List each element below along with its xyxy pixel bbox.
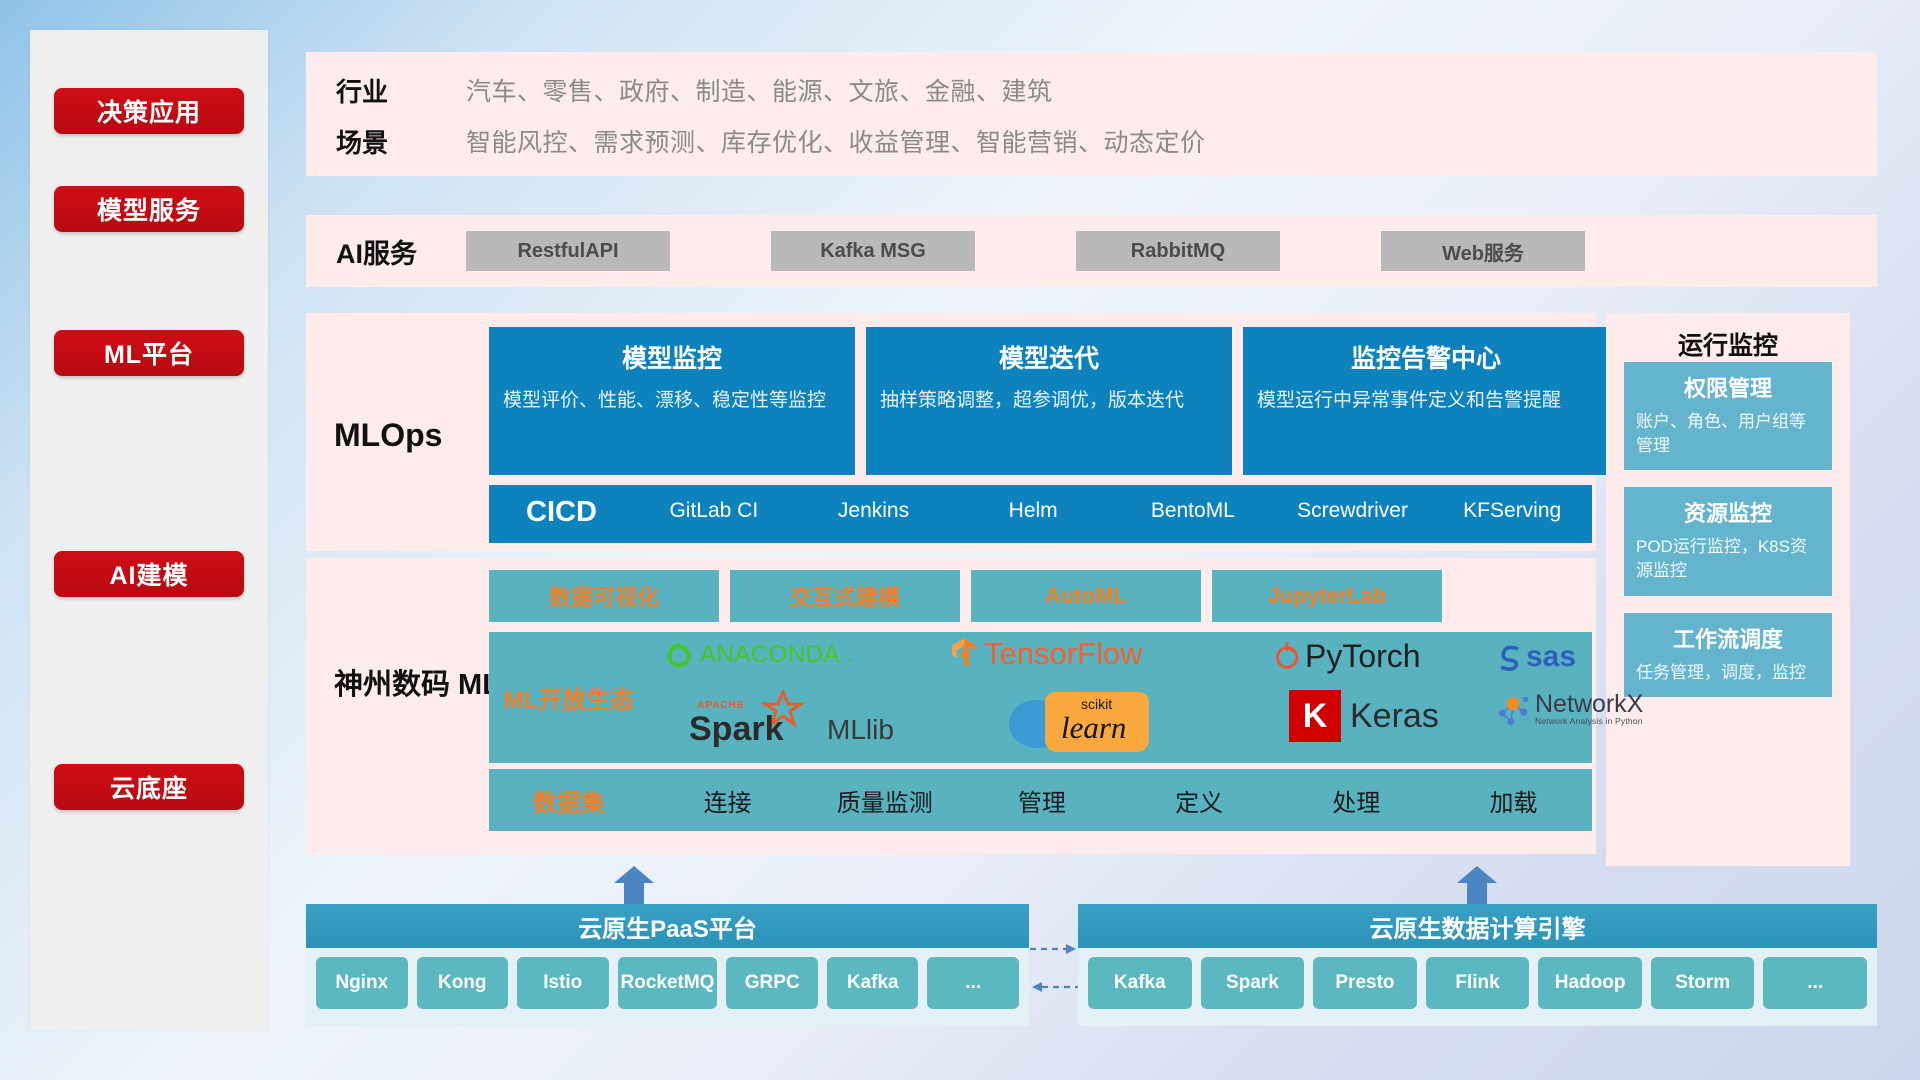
dataset-item-manage[interactable]: 管理	[963, 783, 1120, 818]
engine-chip-hadoop[interactable]: Hadoop	[1538, 957, 1642, 1009]
paas-chip-nginx[interactable]: Nginx	[316, 957, 408, 1009]
card-title: 资源监控	[1636, 496, 1820, 528]
paas-chip-rocketmq[interactable]: RocketMQ	[618, 957, 718, 1009]
tab-data-visualization[interactable]: 数据可视化	[489, 570, 719, 622]
card-desc: 模型运行中异常事件定义和告警提醒	[1257, 387, 1595, 415]
sas-logo[interactable]: sas	[1494, 640, 1576, 674]
pytorch-logo[interactable]: PyTorch	[1274, 638, 1421, 675]
cicd-item-jenkins[interactable]: Jenkins	[794, 485, 954, 522]
card-title: 监控告警中心	[1257, 339, 1595, 375]
scenario-key: 场景	[336, 123, 466, 160]
card-desc: POD运行监控，K8S资源监控	[1636, 535, 1820, 583]
paas-chip-grpc[interactable]: GRPC	[726, 957, 818, 1009]
card-desc: 模型评价、性能、漂移、稳定性等监控	[503, 387, 841, 415]
cicd-item-bentoml[interactable]: BentoML	[1113, 485, 1273, 522]
mlops-label: MLOps	[334, 417, 442, 454]
monitor-card-resource-monitoring[interactable]: 资源监控 POD运行监控，K8S资源监控	[1624, 487, 1832, 595]
tab-automl[interactable]: AutoML	[971, 570, 1201, 622]
up-arrow-paas-icon	[613, 866, 655, 900]
rail-label: 云底座	[110, 769, 188, 805]
paas-platform-box: 云原生PaaS平台 Nginx Kong Istio RocketMQ GRPC…	[306, 904, 1029, 1026]
model-service-band: AI服务 RestfulAPI Kafka MSG RabbitMQ Web服务	[306, 215, 1877, 287]
ai-modeling-band: 神州数码 ML LAB 数据可视化 交互式建模 AutoML JupyterLa…	[306, 558, 1596, 854]
service-chip-rabbitmq[interactable]: RabbitMQ	[1076, 231, 1280, 271]
industry-key: 行业	[336, 72, 466, 109]
industry-value: 汽车、零售、政府、制造、能源、文旅、金融、建筑	[466, 72, 1053, 108]
layer-label-rail: 决策应用 模型服务 ML平台 AI建模 云底座	[30, 30, 268, 1030]
scenario-row: 场景 智能风控、需求预测、库存优化、收益管理、智能营销、动态定价	[336, 117, 1877, 165]
scikit-learn-logo[interactable]: scikit learn	[1009, 692, 1184, 754]
engine-chip-presto[interactable]: Presto	[1313, 957, 1417, 1009]
paas-platform-title: 云原生PaaS平台	[306, 904, 1029, 948]
tensorflow-logo[interactable]: TensorFlow	[949, 636, 1143, 672]
tab-interactive-modeling[interactable]: 交互式建模	[730, 570, 960, 622]
anaconda-logo[interactable]: ANACONDA.	[664, 640, 853, 670]
card-title: 模型迭代	[880, 339, 1218, 375]
paas-chip-kafka[interactable]: Kafka	[827, 957, 919, 1009]
rail-label: 决策应用	[97, 93, 201, 129]
paas-chip-istio[interactable]: Istio	[517, 957, 609, 1009]
cicd-item-gitlab-ci[interactable]: GitLab CI	[634, 485, 794, 522]
mlops-card-model-iteration[interactable]: 模型迭代 抽样策略调整，超参调优，版本迭代	[866, 327, 1232, 475]
card-title: 权限管理	[1636, 371, 1820, 403]
data-compute-engine-box: 云原生数据计算引擎 Kafka Spark Presto Flink Hadoo…	[1078, 904, 1877, 1026]
service-chip-restfulapi[interactable]: RestfulAPI	[466, 231, 670, 271]
cicd-item-kfserving[interactable]: KFServing	[1432, 485, 1592, 522]
ml-ecosystem-row: ML开放生态 ANACONDA. TensorFlow	[489, 632, 1592, 763]
mlops-card-model-monitoring[interactable]: 模型监控 模型评价、性能、漂移、稳定性等监控	[489, 327, 855, 475]
dataset-item-quality-monitoring[interactable]: 质量监测	[806, 783, 963, 818]
scenario-value: 智能风控、需求预测、库存优化、收益管理、智能营销、动态定价	[466, 123, 1206, 159]
card-desc: 抽样策略调整，超参调优，版本迭代	[880, 387, 1218, 415]
run-monitoring-band: 运行监控 权限管理 账户、角色、用户组等管理 资源监控 POD运行监控，K8S资…	[1606, 313, 1850, 866]
service-chip-kafka-msg[interactable]: Kafka MSG	[771, 231, 975, 271]
rail-label: ML平台	[104, 335, 194, 371]
rail-item-model-service[interactable]: 模型服务	[54, 186, 244, 232]
dataset-item-load[interactable]: 加载	[1435, 783, 1592, 818]
dataset-row: 数据集 连接 质量监测 管理 定义 处理 加载	[489, 769, 1592, 831]
tab-jupyterlab[interactable]: JupyterLab	[1212, 570, 1442, 622]
engine-chip-flink[interactable]: Flink	[1426, 957, 1530, 1009]
monitor-card-permission-management[interactable]: 权限管理 账户、角色、用户组等管理	[1624, 362, 1832, 470]
dataset-item-connect[interactable]: 连接	[649, 783, 806, 818]
paas-chip-more[interactable]: ...	[927, 957, 1019, 1009]
architecture-diagram: 决策应用 模型服务 ML平台 AI建模 云底座 行业 汽车、零售、政府、制造、能…	[0, 0, 1920, 1080]
up-arrow-data-engine-icon	[1456, 866, 1498, 900]
engine-chip-storm[interactable]: Storm	[1651, 957, 1755, 1009]
rail-item-ml-platform[interactable]: ML平台	[54, 330, 244, 376]
spark-mllib-logo[interactable]: APACHE Spark MLlib	[689, 694, 894, 750]
dataset-label: 数据集	[489, 783, 649, 818]
rail-item-ai-modeling[interactable]: AI建模	[54, 551, 244, 597]
rail-label: 模型服务	[97, 191, 201, 227]
dataset-item-process[interactable]: 处理	[1278, 783, 1435, 818]
ml-ecosystem-label: ML开放生态	[489, 680, 649, 715]
mlops-card-alert-center[interactable]: 监控告警中心 模型运行中异常事件定义和告警提醒	[1243, 327, 1609, 475]
decision-application-band: 行业 汽车、零售、政府、制造、能源、文旅、金融、建筑 场景 智能风控、需求预测、…	[306, 52, 1877, 176]
card-desc: 账户、角色、用户组等管理	[1636, 410, 1820, 458]
ai-service-label: AI服务	[336, 232, 466, 271]
card-desc: 任务管理，调度，监控	[1636, 661, 1820, 685]
engine-chip-kafka[interactable]: Kafka	[1088, 957, 1192, 1009]
run-monitoring-title: 运行监控	[1606, 313, 1850, 362]
paas-chip-kong[interactable]: Kong	[417, 957, 509, 1009]
cicd-item-screwdriver[interactable]: Screwdriver	[1273, 485, 1433, 522]
monitor-card-workflow-scheduling[interactable]: 工作流调度 任务管理，调度，监控	[1624, 613, 1832, 697]
cicd-row: CICD GitLab CI Jenkins Helm BentoML Scre…	[489, 485, 1592, 543]
service-chip-web-service[interactable]: Web服务	[1381, 231, 1585, 271]
card-title: 模型监控	[503, 339, 841, 375]
data-compute-engine-title: 云原生数据计算引擎	[1078, 904, 1877, 948]
rail-item-decision-application[interactable]: 决策应用	[54, 88, 244, 134]
cicd-title: CICD	[489, 485, 634, 529]
bidirectional-link-icon	[1030, 935, 1078, 1001]
dataset-item-define[interactable]: 定义	[1121, 783, 1278, 818]
networkx-logo[interactable]: NetworkX Network Analysis in Python	[1494, 692, 1643, 726]
cicd-item-helm[interactable]: Helm	[953, 485, 1113, 522]
mlops-band: MLOps 模型监控 模型评价、性能、漂移、稳定性等监控 模型迭代 抽样策略调整…	[306, 313, 1596, 551]
engine-chip-more[interactable]: ...	[1763, 957, 1867, 1009]
engine-chip-spark[interactable]: Spark	[1201, 957, 1305, 1009]
keras-logo[interactable]: K Keras	[1289, 690, 1439, 742]
industry-row: 行业 汽车、零售、政府、制造、能源、文旅、金融、建筑	[336, 66, 1877, 114]
rail-label: AI建模	[109, 556, 188, 592]
rail-item-cloud-base[interactable]: 云底座	[54, 764, 244, 810]
card-title: 工作流调度	[1636, 622, 1820, 654]
